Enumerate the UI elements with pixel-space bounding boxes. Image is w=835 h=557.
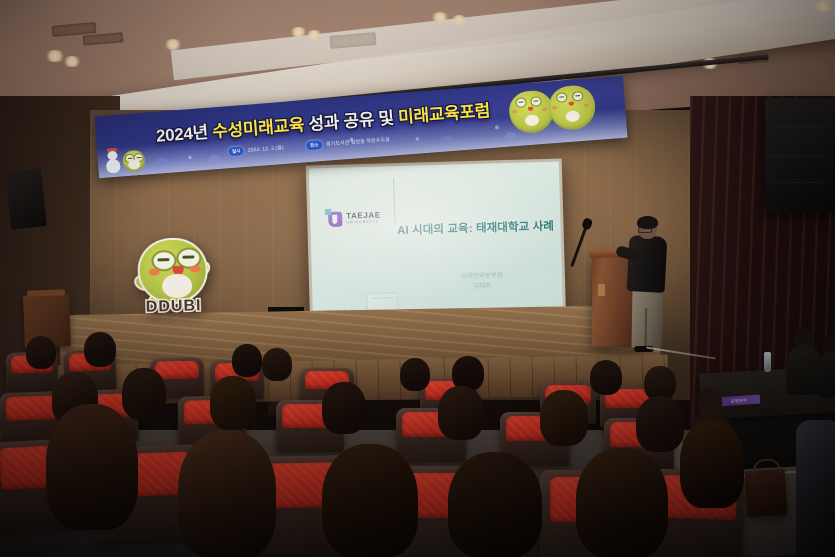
audience-person	[84, 332, 118, 368]
audience-head	[576, 448, 668, 557]
audience-person-foreground	[576, 448, 668, 557]
ceiling-downlight	[430, 12, 450, 23]
standing-attendee-body	[796, 420, 835, 557]
standing-attendee	[796, 420, 835, 557]
slide-divider-line	[393, 178, 395, 224]
audience-head	[448, 452, 542, 557]
ddubi-name-label: DDUBI	[132, 297, 214, 317]
banner-date-label: 일시	[227, 145, 245, 157]
presenter-glasses	[638, 227, 652, 233]
banner-snowman	[105, 151, 121, 174]
handbag	[745, 469, 787, 517]
audience-head	[590, 360, 622, 395]
audience-head	[232, 344, 262, 377]
audience-person	[438, 386, 484, 440]
audience-person	[322, 382, 366, 434]
presenter-legs	[631, 288, 662, 349]
audience-head	[26, 336, 56, 369]
ddubi-belly	[162, 274, 193, 299]
ceiling-downlight	[305, 30, 323, 40]
audience-person-foreground	[448, 452, 542, 557]
audience-head	[178, 430, 276, 557]
audience-person	[400, 358, 432, 392]
ceiling-downlight	[163, 39, 183, 50]
banner-date-value: 2024. 12. 2.(월)	[248, 144, 284, 154]
ddubi-mascot-standee: DDUBI	[131, 235, 215, 327]
audience-person	[636, 396, 684, 452]
ceiling-downlight	[62, 56, 82, 67]
podium-emblem	[598, 284, 605, 296]
ceiling-downlight	[812, 0, 834, 12]
audience-person	[210, 376, 256, 430]
audience-head	[438, 386, 484, 440]
banner-place-label: 장소	[305, 139, 323, 151]
slide-title: AI 시대의 교육: 태재대학교 사례	[396, 218, 554, 238]
ops-staff-shoulders	[786, 345, 822, 395]
projection-screen: TAEJAE UNIVERSITY AI 시대의 교육: 태재대학교 사례 미래…	[306, 158, 567, 331]
ceiling-downlight	[450, 15, 468, 25]
audience-person	[232, 344, 264, 378]
audience-person-foreground	[178, 430, 276, 557]
auditorium-photo: TAEJAE UNIVERSITY AI 시대의 교육: 태재대학교 사례 미래…	[0, 0, 835, 557]
audience-head	[636, 396, 684, 452]
audience-head	[46, 404, 138, 530]
audience-person	[590, 360, 624, 396]
slide-surface: TAEJAE UNIVERSITY AI 시대의 교육: 태재대학교 사례 미래…	[309, 162, 563, 329]
slide-presenter-block: 미래전략본부장 김태희	[422, 270, 542, 293]
audience-person	[262, 348, 294, 382]
audience-person-foreground	[680, 420, 744, 508]
presenter-person	[620, 218, 676, 350]
taejae-logo-sub: UNIVERSITY	[346, 221, 381, 226]
banner-title-part1: 2024년	[155, 122, 213, 145]
audience-head	[322, 382, 366, 434]
audience-person	[26, 336, 58, 370]
presenter-torso	[627, 235, 668, 293]
audience-head	[210, 376, 256, 430]
taejae-logo: TAEJAE UNIVERSITY	[328, 211, 381, 227]
pa-speaker-left	[5, 168, 47, 229]
audience-head	[322, 444, 418, 557]
audience-head	[540, 390, 588, 446]
ops-staff-person	[818, 336, 835, 408]
audience-head	[400, 358, 430, 391]
ops-staff-person	[786, 328, 822, 406]
audience-person-foreground	[322, 444, 418, 557]
audience-head	[262, 348, 292, 381]
screen-light-glow	[309, 162, 563, 329]
audience-head	[84, 332, 116, 367]
ops-staff-shoulders	[818, 352, 835, 398]
audience-person-foreground	[46, 404, 138, 530]
audience-head	[680, 420, 744, 508]
ddubi-cheek-left	[149, 268, 160, 275]
slide-presenter-name: 김태희	[422, 280, 542, 293]
pa-speaker-right	[765, 98, 833, 213]
ops-laptop	[735, 361, 767, 386]
ddubi-cheek-right	[190, 265, 201, 272]
ddubi-body	[137, 237, 209, 305]
taejae-logo-mark	[328, 212, 342, 227]
audience-person	[540, 390, 588, 446]
